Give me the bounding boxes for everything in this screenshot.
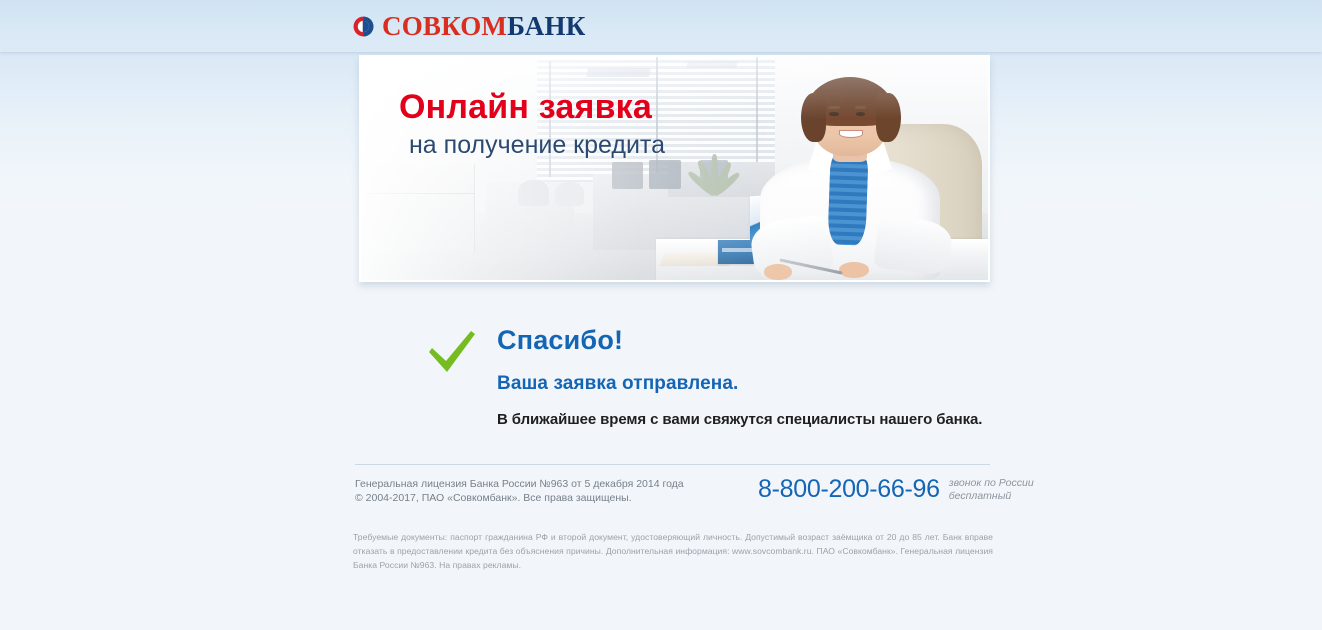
site-header: СОВКОМБАНК <box>0 0 1322 52</box>
hero-banner-image: Онлайн заявка на получение кредита <box>361 57 988 280</box>
office-plant-icon <box>690 146 734 195</box>
logo-wordmark-blue: БАНК <box>507 11 585 41</box>
footer-divider <box>355 464 990 465</box>
confirmation-subtitle: Ваша заявка отправлена. <box>497 373 1066 395</box>
sovcombank-logo[interactable]: СОВКОМБАНК <box>352 10 585 42</box>
footer-license: Генеральная лицензия Банка России №963 о… <box>355 477 755 491</box>
confirmation-note: В ближайшее время с вами свяжутся специа… <box>497 411 1066 428</box>
page-root: СОВКОМБАНК <box>0 0 1322 630</box>
confirmation-title: Спасибо! <box>497 325 1066 356</box>
logo-wordmark: СОВКОМБАНК <box>382 13 585 40</box>
sovcombank-circle-logo-icon <box>352 15 375 38</box>
phone-note-line1: звонок по России <box>949 477 1034 490</box>
footer-disclaimer: Требуемые документы: паспорт гражданина … <box>353 530 993 572</box>
phone-number[interactable]: 8-800-200-66-96 <box>758 477 940 502</box>
hero-banner: Онлайн заявка на получение кредита <box>359 55 990 282</box>
bank-employee-photo <box>756 77 944 280</box>
logo-wordmark-red: СОВКОМ <box>382 11 507 41</box>
green-checkmark-icon <box>426 328 478 378</box>
footer-legal: Генеральная лицензия Банка России №963 о… <box>355 477 755 505</box>
banner-subtitle: на получение кредита <box>409 130 665 160</box>
footer-copyright: © 2004-2017, ПАО «Совкомбанк». Все права… <box>355 491 755 505</box>
confirmation-block: Спасибо! Ваша заявка отправлена. В ближа… <box>426 325 1066 428</box>
phone-note: звонок по России бесплатный <box>949 477 1034 503</box>
phone-note-line2: бесплатный <box>949 490 1034 503</box>
banner-copy: Онлайн заявка на получение кредита <box>399 89 665 160</box>
contact-phone-block[interactable]: 8-800-200-66-96 звонок по России бесплат… <box>758 476 1034 503</box>
banner-title: Онлайн заявка <box>399 89 665 125</box>
